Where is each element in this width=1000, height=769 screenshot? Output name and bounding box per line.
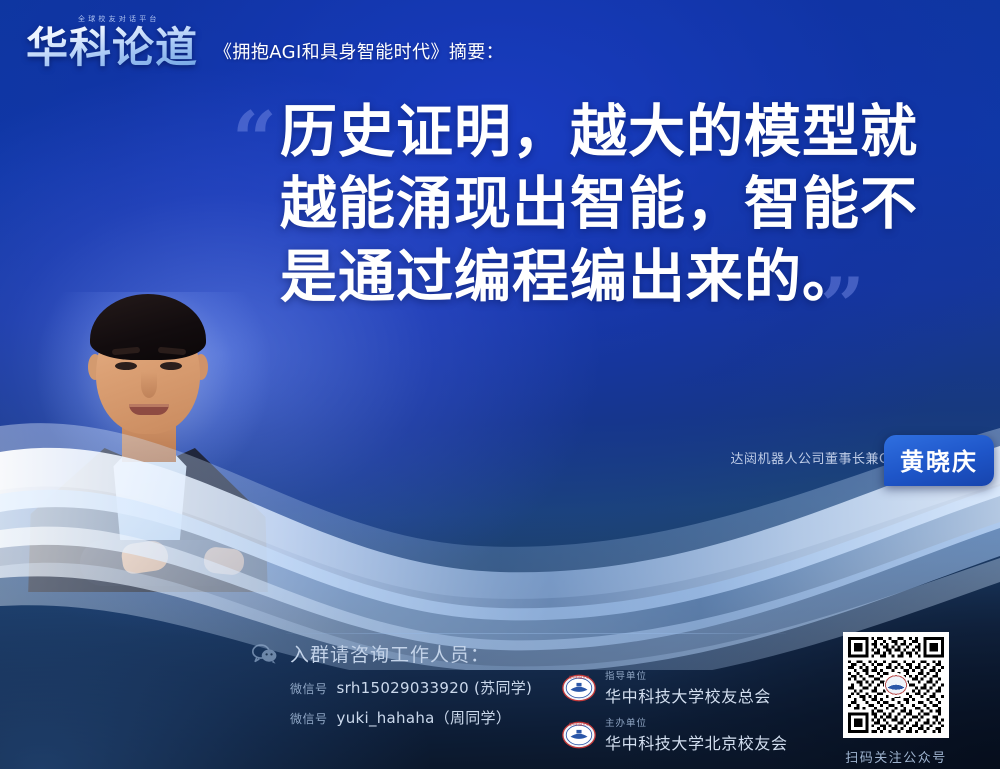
contact-value[interactable]: srh15029033920 (苏同学) — [337, 677, 533, 698]
qr-caption: 扫码关注公众号 — [838, 747, 954, 766]
wechat-icon — [252, 644, 278, 664]
svg-text:华中科技大学: 华中科技大学 — [569, 674, 590, 679]
portrait-eye-right — [160, 362, 182, 370]
qr-code-matrix — [848, 637, 944, 733]
quote-line: 越能涌现出智能，智能不 — [280, 168, 952, 240]
speaker-name: 黄晓庆 — [900, 442, 978, 477]
speaker-role: 达闼机器人公司董事长兼CEO — [730, 448, 908, 467]
quote-open-mark: “ — [232, 102, 277, 180]
organization-name: 华中科技大学北京校友会 — [605, 730, 788, 754]
contact-label: 微信号 — [290, 710, 328, 727]
qr-block: 扫码关注公众号 — [838, 632, 954, 766]
hust-seal-icon: 华中科技大学 — [562, 718, 596, 752]
organization-row: 华中科技大学 指导单位 华中科技大学校友总会 — [562, 668, 788, 707]
header: 全球校友对话平台 华科论道 《拥抱AGI和具身智能时代》摘要： — [26, 16, 504, 69]
speaker-attribution: 达闼机器人公司董事长兼CEO 黄晓庆 — [730, 448, 908, 467]
quote-block: “ ” 历史证明，越大的模型就 越能涌现出智能，智能不 是通过编程编出来的。 — [232, 96, 952, 313]
quote-line: 历史证明，越大的模型就 — [280, 96, 952, 168]
header-subtitle: 《拥抱AGI和具身智能时代》摘要： — [214, 38, 504, 69]
contact-value[interactable]: yuki_hahaha（周同学） — [337, 707, 512, 728]
organization-kind: 主办单位 — [605, 715, 788, 729]
portrait-mouth — [129, 404, 169, 415]
hust-seal-icon: 华中科技大学 — [562, 671, 596, 705]
svg-text:华中科技大学: 华中科技大学 — [569, 721, 590, 726]
poster-canvas: 全球校友对话平台 华科论道 《拥抱AGI和具身智能时代》摘要： “ ” 历史证明… — [0, 0, 1000, 769]
brand-logo: 全球校友对话平台 华科论道 — [26, 16, 198, 69]
organization-row: 华中科技大学 主办单位 华中科技大学北京校友会 — [562, 715, 788, 754]
contact-label: 微信号 — [290, 680, 328, 697]
organization-text: 指导单位 华中科技大学校友总会 — [605, 668, 771, 707]
footer-title: 入群请咨询工作人员： — [290, 640, 490, 667]
qr-code-icon[interactable] — [843, 632, 949, 738]
portrait-eye-left — [115, 362, 137, 370]
organization-list: 华中科技大学 指导单位 华中科技大学校友总会 华中科技大学 主办单位 华中科 — [562, 668, 788, 762]
speaker-name-badge: 黄晓庆 — [884, 435, 994, 486]
organization-text: 主办单位 华中科技大学北京校友会 — [605, 715, 788, 754]
organization-name: 华中科技大学校友总会 — [605, 683, 771, 707]
footer-divider — [286, 633, 786, 634]
quote-close-mark: ” — [820, 268, 865, 346]
portrait-nose — [141, 372, 157, 398]
logo-wordmark: 华科论道 — [26, 16, 198, 69]
organization-kind: 指导单位 — [605, 668, 771, 682]
